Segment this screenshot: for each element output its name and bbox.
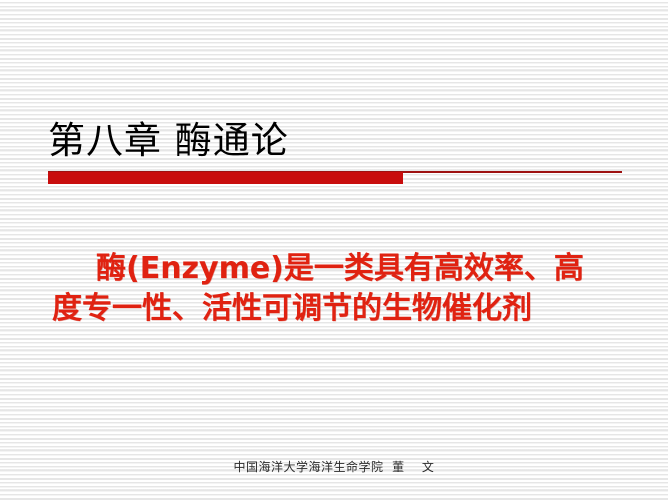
page-title: 第八章 酶通论 (48, 118, 628, 164)
footer: 中国海洋大学海洋生命学院 董 文 (0, 458, 668, 476)
body-line-1: 酶(Enzyme)是一类具有高效率、高 (52, 249, 642, 289)
footer-attribution: 中国海洋大学海洋生命学院 董 文 (234, 459, 435, 476)
body-line-2: 度专一性、活性可调节的生物催化剂 (52, 289, 642, 329)
slide-canvas: 第八章 酶通论 酶(Enzyme)是一类具有高效率、高 度专一性、活性可调节的生… (0, 0, 668, 502)
title-block: 第八章 酶通论 (48, 118, 628, 164)
divider-thick-bar (48, 172, 403, 184)
body-text-block: 酶(Enzyme)是一类具有高效率、高 度专一性、活性可调节的生物催化剂 (52, 249, 642, 329)
